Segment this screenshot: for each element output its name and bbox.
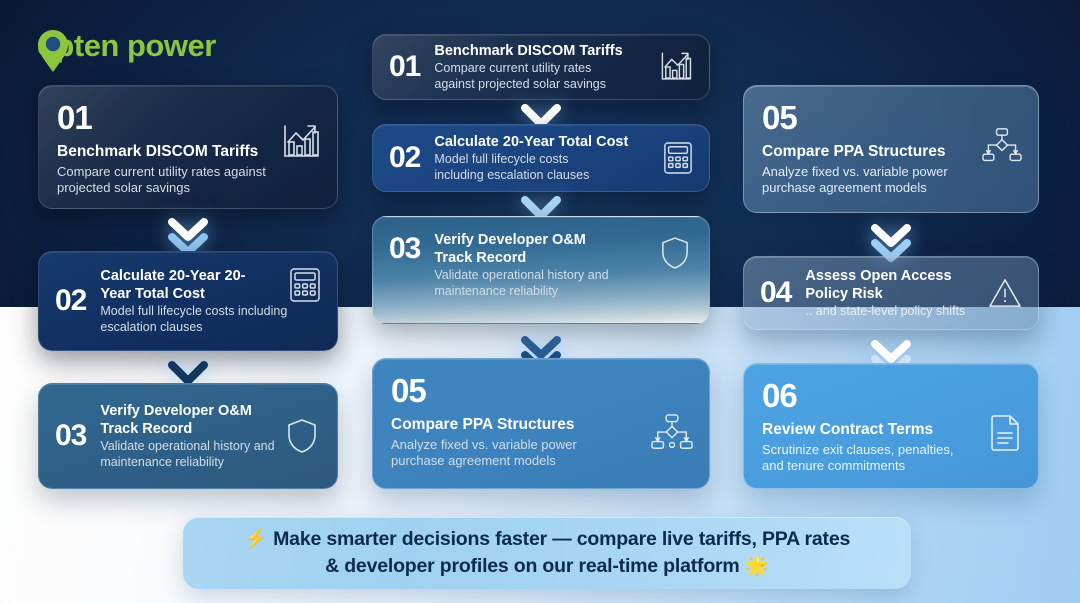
cta-text: ⚡ Make smarter decisions faster — compar… [244, 526, 850, 580]
card-title: Calculate 20-Year 20-Year Total Cost [100, 267, 250, 303]
card-description: Validate operational history and mainten… [434, 268, 649, 299]
card-left-03[interactable]: 03 Verify Developer O&M Track Record Val… [38, 383, 338, 489]
card-number: 01 [389, 51, 420, 83]
card-number: 05 [762, 100, 1020, 136]
card-title: Assess Open Access Policy Risk [805, 267, 965, 303]
card-number: 03 [55, 420, 86, 452]
card-right-05[interactable]: 05 Compare PPA Structures Analyze fixed … [743, 85, 1039, 213]
card-number: 02 [55, 285, 86, 317]
card-description: Model full lifecycle costs including esc… [434, 152, 609, 183]
card-number: 02 [389, 142, 420, 174]
card-description: Analyze fixed vs. variable power purchas… [391, 437, 616, 469]
brand-logo: opten power [37, 24, 216, 68]
card-title: Benchmark DISCOM Tariffs [434, 42, 693, 60]
card-description: .. and state-level policy shifts [805, 304, 1022, 320]
card-number: 06 [762, 378, 1020, 414]
card-description: Analyze fixed vs. variable power purchas… [762, 164, 962, 196]
card-title: Compare PPA Structures [762, 142, 1020, 161]
cta-line-1: ⚡ Make smarter decisions faster — compar… [244, 528, 850, 550]
card-left-02[interactable]: 02 Calculate 20-Year 20-Year Total Cost … [38, 251, 338, 351]
card-number: 01 [57, 100, 319, 136]
card-title: Calculate 20-Year Total Cost [434, 133, 693, 151]
card-right-06[interactable]: 06 Review Contract Terms Scrutinize exit… [743, 363, 1039, 489]
card-description: Model full lifecycle costs including esc… [100, 304, 300, 335]
card-number: 05 [391, 373, 691, 409]
card-mid-03[interactable]: 03 Verify Developer O&M Track Record Val… [372, 216, 710, 324]
card-number: 03 [389, 233, 420, 265]
cta-line-2: & developer profiles on our real-time pl… [325, 555, 769, 577]
card-number: 04 [760, 277, 791, 309]
card-description: Validate operational history and mainten… [100, 439, 305, 470]
card-title: Verify Developer O&M Track Record [100, 402, 280, 438]
card-title: Compare PPA Structures [391, 415, 691, 434]
card-title: Verify Developer O&M Track Record [434, 231, 594, 267]
card-left-01[interactable]: 01 Benchmark DISCOM Tariffs Compare curr… [38, 85, 338, 209]
card-description: Compare current utility rates against pr… [57, 164, 267, 196]
card-title: Benchmark DISCOM Tariffs [57, 142, 319, 161]
brand-pin-icon [37, 28, 71, 74]
card-title: Review Contract Terms [762, 420, 1020, 439]
card-mid-01[interactable]: 01 Benchmark DISCOM Tariffs Compare curr… [372, 34, 710, 100]
card-mid-02[interactable]: 02 Calculate 20-Year Total Cost Model fu… [372, 124, 710, 192]
card-description: Scrutinize exit clauses, penalties, and … [762, 442, 977, 474]
card-mid-05[interactable]: 05 Compare PPA Structures Analyze fixed … [372, 358, 710, 489]
card-description: Compare current utility rates against pr… [434, 61, 629, 92]
card-right-04[interactable]: 04 Assess Open Access Policy Risk .. and… [743, 256, 1039, 330]
cta-banner[interactable]: ⚡ Make smarter decisions faster — compar… [183, 517, 911, 589]
